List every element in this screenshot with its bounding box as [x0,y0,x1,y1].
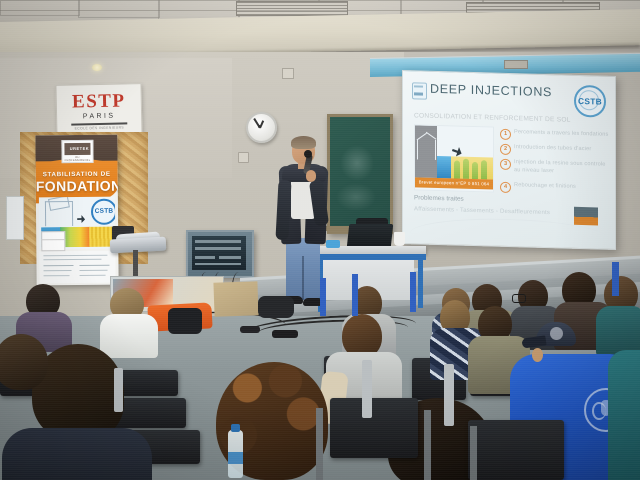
person-body [2,428,152,480]
bullet-number: 4 [500,182,511,193]
cabinet-interior [192,236,246,270]
diagram-house-outline [417,131,435,158]
auditorium-seat[interactable] [468,420,564,480]
microphone-head [304,150,312,158]
seat-armrest [114,368,123,412]
chalk-smudge [336,183,376,211]
house-roof-right [426,132,437,140]
bottle-cap [231,424,240,432]
patent-banner-text: Brevet europeen n°EP 0 851 064 [415,179,493,186]
projection-screen: DEEP INJECTIONS CSTB CONSOLIDATION ET RE… [402,70,616,250]
slide-problems-label: Problemes traites [414,194,464,202]
bullet-number: 3 [500,159,511,170]
bullet-text: Injection de la resine sous controle [514,159,606,168]
uretek-logo-box: URETEK [64,143,90,155]
icon-bar-top [414,85,423,88]
cardboard-box [213,281,258,317]
black-bag [258,296,294,318]
bottle-label [228,452,243,464]
slide-bullet: 3 Injection de la resine sous controle a… [500,159,608,183]
cap-brim [521,335,546,348]
injection-column [481,160,487,179]
injection-column [463,159,469,179]
photo-scene: ESTP PARIS ECOLE DES INGENIEURS URETEK D… [0,0,640,480]
banner-cstb-logo: CSTB [91,199,115,225]
estp-tagline: ECOLE DES INGENIEURS [57,125,141,131]
bullet-text-line2: au niveau laser [514,167,554,174]
estp-sign: ESTP PARIS ECOLE DES INGENIEURS [55,83,142,139]
patent-banner: Brevet europeen n°EP 0 851 064 [415,177,493,189]
person-body [608,350,640,480]
estp-title: ESTP [57,91,141,112]
presenter-leg-split [302,256,304,300]
seat-armrest [444,364,454,426]
clock-center [258,125,261,128]
uretek-logo: URETEK DU PROFESSIONNEL [61,140,93,163]
slide-header-icon [412,82,427,99]
slide-title: DEEP INJECTIONS [430,82,552,99]
eyeglasses [512,294,526,303]
chair-frame-blue [320,278,326,316]
chalkboard [327,114,393,234]
uretek-logo-text: URETEK [64,146,94,151]
cap-badge [550,327,563,340]
house-wall-left [417,139,418,159]
seat-support [424,410,431,480]
chair-frame-blue [352,274,358,316]
presentation-slide: DEEP INJECTIONS CSTB CONSOLIDATION ET RE… [408,76,610,240]
floor-pedal[interactable] [272,330,298,338]
slide-footer-logo [574,207,598,226]
uretek-logo-sub: DU PROFESSIONNEL [63,156,93,162]
floor-connector [240,326,260,333]
icon-bar-bottom [414,92,423,95]
diagram-water-layer [437,156,451,178]
diagram-soil-layer [451,156,493,179]
wall-equipment-cabinet[interactable] [186,230,254,278]
slide-bullet: 4 Rebouchage et finitions [500,182,608,198]
pinned-paper [6,196,24,240]
presenter-hair [291,136,316,149]
slide-diagram: Brevet europeen n°EP 0 851 064 [414,124,494,192]
bullet-text: Introduction des tubes d'acier [514,144,591,152]
person-head [0,334,48,390]
slide-bullet: 1 Percements a travers les fondations [500,129,608,145]
slide-bullet-list: 1 Percements a travers les fondations 2 … [500,129,608,200]
ceiling-light [92,64,102,71]
chair-frame-blue [612,262,619,296]
bullet-text: Rebouchage et finitions [514,182,576,190]
injection-column [472,162,478,179]
tripod-head [110,237,167,254]
seat-support [316,408,323,480]
laptop-screen [347,224,394,248]
presenter-hand [306,170,316,182]
roll-up-banner: URETEK DU PROFESSIONNEL STABILISATION DE… [35,135,118,286]
wall-socket[interactable] [238,152,249,163]
chalk-smudge [340,145,374,181]
bullet-number: 2 [500,144,511,155]
seat-armrest [362,360,372,418]
baseball-cap [536,322,576,348]
injection-column [454,160,460,178]
seat-support [470,426,477,480]
auditorium-seat[interactable] [330,398,418,458]
desk-leg [418,258,423,308]
wall-switch[interactable] [282,68,294,79]
banner-footer [39,251,115,284]
banner-line-2: FONDATIONS [36,179,118,195]
banner-cstb-text: CSTB [93,208,115,215]
slide-subtitle: CONSOLIDATION ET RENFORCEMENT DE SOL [414,112,571,123]
bullet-text: Percements a travers les fondations [514,129,608,138]
slide-problems-list: Affaissements - Tassements - Desaffleure… [414,206,550,216]
banner-partner-logo-2 [41,239,65,251]
chair-frame-blue [410,272,416,312]
person-body [596,306,640,356]
bullet-number: 1 [500,129,511,140]
person-ear [532,348,543,362]
ceiling-vent [236,1,348,16]
slide-bullet: 2 Introduction des tubes d'acier [500,144,608,160]
cstb-logo: CSTB [574,85,606,118]
screen-mount [504,60,528,69]
paper-cup [394,232,405,246]
banner-injection-arrow [77,215,85,223]
person-body [100,314,158,358]
estp-subtitle: PARIS [57,112,141,121]
cstb-logo-text: CSTB [576,96,604,107]
black-bag [168,308,202,334]
